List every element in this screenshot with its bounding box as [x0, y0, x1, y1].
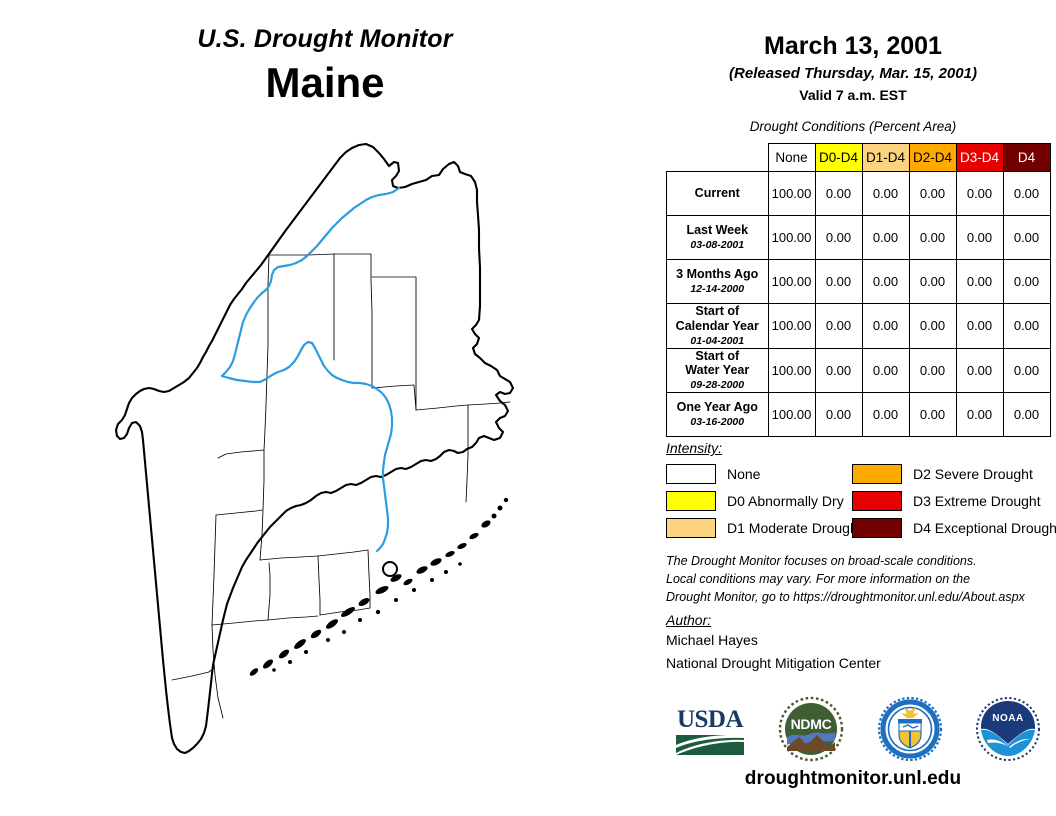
- map-title-block: U.S. Drought Monitor Maine: [0, 26, 650, 106]
- svg-text:NOAA: NOAA: [992, 713, 1023, 724]
- table-row: 3 Months Ago12-14-2000100.000.000.000.00…: [667, 260, 1051, 304]
- date-block: March 13, 2001 (Released Thursday, Mar. …: [650, 0, 1056, 103]
- legend-label-none: None: [727, 466, 760, 482]
- cell-r4-c1: 0.00: [815, 348, 862, 393]
- table-header-row: None D0-D4 D1-D4 D2-D4 D3-D4 D4: [667, 144, 1051, 172]
- cell-r1-c2: 0.00: [862, 216, 909, 260]
- cell-r3-c5: 0.00: [1003, 304, 1050, 349]
- row-label-main: Start ofWater Year: [667, 349, 768, 379]
- state-outline-group: [116, 144, 513, 753]
- cell-r0-c2: 0.00: [862, 172, 909, 216]
- legend-label-d1: D1 Moderate Drought: [727, 520, 862, 536]
- disclaimer-line-1: The Drought Monitor focuses on broad-sca…: [666, 552, 1056, 570]
- usda-logo: USDA: [672, 701, 748, 757]
- cell-r4-c3: 0.00: [909, 348, 956, 393]
- legend-item-d0: D0 Abnormally Dry: [666, 491, 852, 511]
- row-label-main: Last Week: [667, 223, 768, 238]
- disclaimer-text: The Drought Monitor focuses on broad-sca…: [666, 552, 1056, 606]
- author-name: Michael Hayes: [666, 630, 1056, 651]
- drought-conditions-table-wrap: None D0-D4 D1-D4 D2-D4 D3-D4 D4 Current1…: [666, 143, 1044, 437]
- row-label-main: Current: [667, 186, 768, 201]
- row-label-main: 3 Months Ago: [667, 267, 768, 282]
- swatch-none: [666, 464, 716, 484]
- author-label: Author:: [666, 612, 1056, 628]
- table-body: Current100.000.000.000.000.000.00Last We…: [667, 172, 1051, 437]
- table-row: Start ofCalendar Year01-04-2001100.000.0…: [667, 304, 1051, 349]
- column-header-d3d4: D3-D4: [956, 144, 1003, 172]
- cell-r0-c5: 0.00: [1003, 172, 1050, 216]
- cell-r3-c1: 0.00: [815, 304, 862, 349]
- cell-r5-c5: 0.00: [1003, 393, 1050, 437]
- column-header-d4: D4: [1003, 144, 1050, 172]
- disclaimer-line-3: Drought Monitor, go to https://droughtmo…: [666, 588, 1056, 606]
- table-row: Start ofWater Year09-28-2000100.000.000.…: [667, 348, 1051, 393]
- cell-r2-c1: 0.00: [815, 260, 862, 304]
- release-date: (Released Thursday, Mar. 15, 2001): [650, 65, 1056, 82]
- cell-r0-c3: 0.00: [909, 172, 956, 216]
- swatch-d4: [852, 518, 902, 538]
- swatch-d3: [852, 491, 902, 511]
- row-label-3: Start ofCalendar Year01-04-2001: [667, 304, 769, 349]
- cell-r4-c0: 100.00: [768, 348, 815, 393]
- cell-r4-c4: 0.00: [956, 348, 1003, 393]
- header-spacer-cell: [667, 144, 769, 172]
- legend-item-d4: D4 Exceptional Drought: [852, 518, 1052, 538]
- county-line-sagadahoc: [268, 616, 318, 620]
- issue-date: March 13, 2001: [650, 32, 1056, 61]
- svg-text:NDMC: NDMC: [790, 716, 831, 732]
- cell-r4-c5: 0.00: [1003, 348, 1050, 393]
- cell-r5-c0: 100.00: [768, 393, 815, 437]
- page-title: U.S. Drought Monitor: [0, 26, 650, 54]
- maine-drought-map: [96, 120, 566, 780]
- cell-r5-c3: 0.00: [909, 393, 956, 437]
- logo-row: USDA NDMC: [658, 688, 1056, 770]
- cell-r4-c2: 0.00: [862, 348, 909, 393]
- svg-text:USDA: USDA: [676, 706, 743, 733]
- legend-item-d2: D2 Severe Drought: [852, 464, 1052, 484]
- column-header-d1d4: D1-D4: [862, 144, 909, 172]
- cell-r0-c1: 0.00: [815, 172, 862, 216]
- author-block: Author: Michael Hayes National Drought M…: [666, 612, 1056, 674]
- cell-r3-c0: 100.00: [768, 304, 815, 349]
- cell-r1-c1: 0.00: [815, 216, 862, 260]
- row-label-date: 12-14-2000: [667, 283, 768, 296]
- cell-r2-c2: 0.00: [862, 260, 909, 304]
- maine-map-svg: [96, 120, 566, 780]
- row-label-1: Last Week03-08-2001: [667, 216, 769, 260]
- coastal-islands-group: [249, 498, 509, 677]
- row-label-date: 03-16-2000: [667, 416, 768, 429]
- table-caption: Drought Conditions (Percent Area): [650, 119, 1056, 134]
- row-label-date: 09-28-2000: [667, 379, 768, 392]
- cell-r1-c5: 0.00: [1003, 216, 1050, 260]
- noaa-logo: NOAA: [973, 694, 1043, 764]
- cell-r1-c4: 0.00: [956, 216, 1003, 260]
- drought-conditions-table: None D0-D4 D1-D4 D2-D4 D3-D4 D4 Current1…: [666, 143, 1051, 437]
- cell-r2-c5: 0.00: [1003, 260, 1050, 304]
- row-label-date: 03-08-2001: [667, 239, 768, 252]
- county-line-waldo: [318, 550, 368, 556]
- column-header-none: None: [768, 144, 815, 172]
- legend-item-d1: D1 Moderate Drought: [666, 518, 852, 538]
- swatch-d1: [666, 518, 716, 538]
- cell-r1-c0: 100.00: [768, 216, 815, 260]
- intensity-legend-label: Intensity:: [666, 440, 1056, 456]
- row-label-0: Current: [667, 172, 769, 216]
- intensity-legend: Intensity: None D2 Severe Drought D0 Abn…: [666, 440, 1056, 538]
- legend-item-d3: D3 Extreme Drought: [852, 491, 1052, 511]
- cell-r2-c0: 100.00: [768, 260, 815, 304]
- legend-label-d2: D2 Severe Drought: [913, 466, 1033, 482]
- cell-r3-c2: 0.00: [862, 304, 909, 349]
- author-organization: National Drought Mitigation Center: [666, 653, 1056, 674]
- legend-label-d4: D4 Exceptional Drought: [913, 520, 1056, 536]
- legend-item-none: None: [666, 464, 852, 484]
- swatch-d0: [666, 491, 716, 511]
- row-label-4: Start ofWater Year09-28-2000: [667, 348, 769, 393]
- table-row: Current100.000.000.000.000.000.00: [667, 172, 1051, 216]
- swatch-d2: [852, 464, 902, 484]
- county-line-kennebec-south: [268, 563, 270, 620]
- valid-time: Valid 7 a.m. EST: [650, 87, 1056, 103]
- cell-r5-c2: 0.00: [862, 393, 909, 437]
- intensity-legend-grid: None D2 Severe Drought D0 Abnormally Dry…: [666, 464, 1056, 538]
- legend-label-d0: D0 Abnormally Dry: [727, 493, 844, 509]
- row-label-2: 3 Months Ago12-14-2000: [667, 260, 769, 304]
- county-line-waldo-south: [318, 556, 320, 615]
- cell-r5-c1: 0.00: [815, 393, 862, 437]
- usdc-seal-logo: [874, 693, 946, 765]
- cell-r1-c3: 0.00: [909, 216, 956, 260]
- table-row: Last Week03-08-2001100.000.000.000.000.0…: [667, 216, 1051, 260]
- row-label-main: One Year Ago: [667, 400, 768, 415]
- cell-r2-c3: 0.00: [909, 260, 956, 304]
- legend-label-d3: D3 Extreme Drought: [913, 493, 1041, 509]
- cell-r0-c0: 100.00: [768, 172, 815, 216]
- cell-r5-c4: 0.00: [956, 393, 1003, 437]
- maine-state-outline: [116, 144, 513, 753]
- cell-r0-c4: 0.00: [956, 172, 1003, 216]
- table-row: One Year Ago03-16-2000100.000.000.000.00…: [667, 393, 1051, 437]
- row-label-5: One Year Ago03-16-2000: [667, 393, 769, 437]
- drought-monitor-page: U.S. Drought Monitor Maine: [0, 0, 1056, 816]
- website-url: droughtmonitor.unl.edu: [650, 768, 1056, 790]
- column-header-d0d4: D0-D4: [815, 144, 862, 172]
- cell-r3-c4: 0.00: [956, 304, 1003, 349]
- column-header-d2d4: D2-D4: [909, 144, 956, 172]
- ndmc-logo: NDMC: [775, 693, 847, 765]
- disclaimer-line-2: Local conditions may vary. For more info…: [666, 570, 1056, 588]
- cell-r2-c4: 0.00: [956, 260, 1003, 304]
- county-line-kennebec-west: [260, 556, 318, 560]
- cell-r3-c3: 0.00: [909, 304, 956, 349]
- row-label-main: Start ofCalendar Year: [667, 304, 768, 334]
- row-label-date: 01-04-2001: [667, 335, 768, 348]
- state-name-title: Maine: [0, 60, 650, 106]
- table-header: None D0-D4 D1-D4 D2-D4 D3-D4 D4: [667, 144, 1051, 172]
- right-info-column: March 13, 2001 (Released Thursday, Mar. …: [650, 0, 1056, 816]
